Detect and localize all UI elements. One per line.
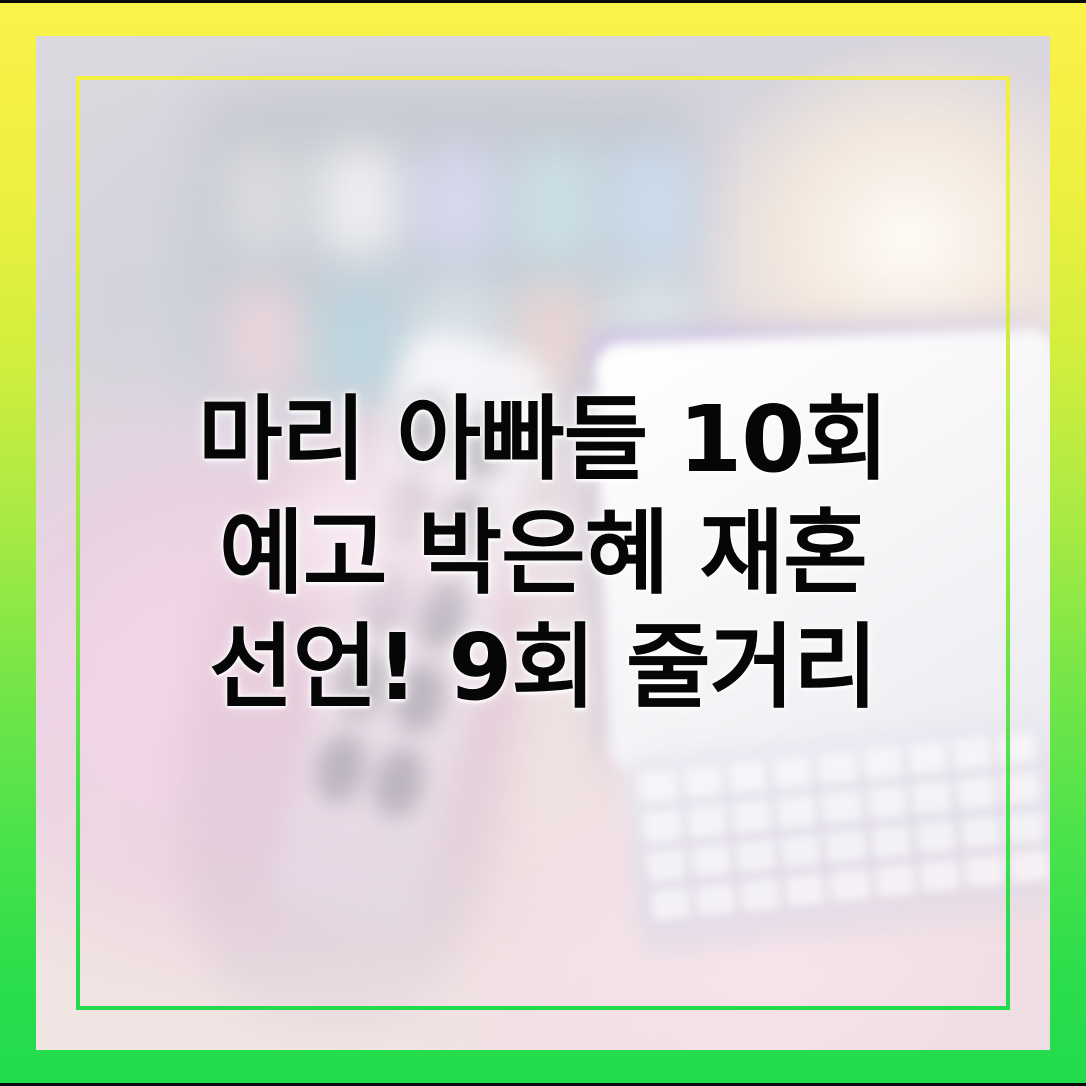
key (735, 838, 777, 874)
key (870, 824, 912, 860)
poster-canvas: 마리 아빠들 10회 예고 박은혜 재혼 선언! 9회 줄거리 (0, 0, 1086, 1086)
app-icon (417, 146, 497, 258)
key (645, 847, 687, 883)
key (955, 775, 997, 811)
key (911, 780, 953, 816)
key (784, 872, 826, 908)
key (1008, 849, 1050, 885)
app-icon (320, 284, 400, 396)
key (874, 863, 916, 899)
key (915, 819, 957, 855)
headline-line-3: 선언! 9회 줄거리 (58, 611, 1028, 725)
key (821, 789, 863, 825)
key (951, 736, 993, 772)
key (739, 877, 781, 913)
app-icon (222, 284, 302, 396)
app-icon (320, 146, 400, 258)
key (1004, 810, 1046, 846)
key (817, 750, 859, 786)
key (686, 804, 728, 840)
key (682, 765, 724, 801)
key (641, 808, 683, 844)
app-icon (515, 146, 595, 258)
key (866, 785, 908, 821)
key (964, 853, 1006, 889)
key (1000, 771, 1042, 807)
app-icon (612, 146, 692, 258)
key (959, 814, 1001, 850)
key (996, 732, 1038, 768)
key (776, 794, 818, 830)
headline-line-1: 마리 아빠들 10회 (58, 383, 1028, 497)
headline-block: 마리 아빠들 10회 예고 박은혜 재혼 선언! 9회 줄거리 (0, 383, 1086, 725)
key (862, 746, 904, 782)
key (650, 886, 692, 922)
key (727, 760, 769, 796)
key (690, 843, 732, 879)
headline-line-2: 예고 박은혜 재혼 (58, 497, 1028, 611)
key (829, 867, 871, 903)
key (780, 833, 822, 869)
key (919, 858, 961, 894)
key (772, 755, 814, 791)
key (906, 741, 948, 777)
key (694, 882, 736, 918)
key (731, 799, 773, 835)
key (637, 769, 679, 805)
top-hairline (0, 0, 1086, 3)
app-icon (222, 146, 302, 258)
key (825, 828, 867, 864)
